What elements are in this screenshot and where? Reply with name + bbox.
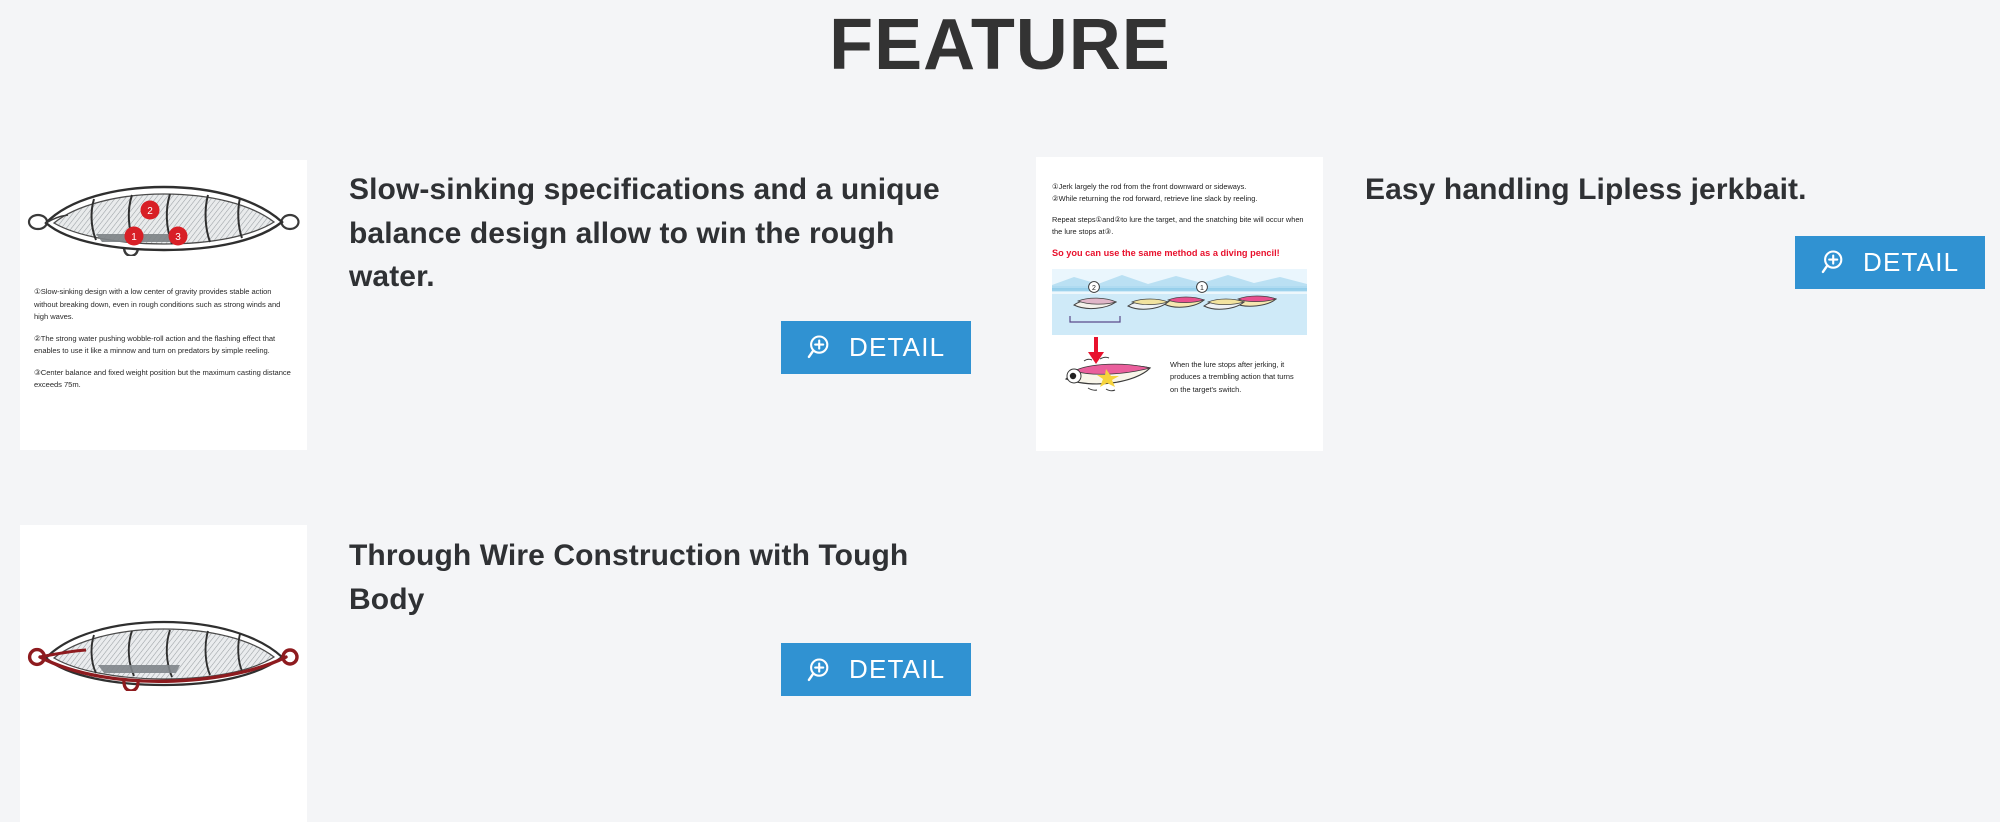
through-wire-diagram (20, 525, 307, 822)
through-wire-illustration (24, 613, 303, 691)
feature-headline: Easy handling Lipless jerkbait. (1365, 168, 1985, 212)
feature-headline: Slow-sinking specifications and a unique… (349, 168, 969, 299)
zoom-in-icon (807, 333, 835, 361)
lure-weight-diagram: 2 1 3 ①Slow-sinking design with a low ce… (20, 160, 307, 450)
weight-marker-1: 1 (125, 227, 144, 246)
svg-text:2: 2 (147, 206, 153, 217)
page-title: FEATURE (0, 4, 2000, 87)
weight-marker-2: 2 (141, 201, 160, 220)
zoom-in-icon (1821, 248, 1849, 276)
weight-marker-3: 3 (169, 227, 188, 246)
feature-headline: Through Wire Construction with Tough Bod… (349, 534, 969, 621)
svg-text:1: 1 (1200, 285, 1204, 292)
feature-image-card-through-wire (20, 525, 307, 822)
feature-copy-lipless-jerkbait: Easy handling Lipless jerkbait. DETAIL (1365, 168, 1985, 289)
spec-item-3: ③Center balance and fixed weight positio… (34, 367, 292, 392)
howto-repeat-note: Repeat steps①and②to lure the target, and… (1052, 214, 1307, 238)
feature-image-card-slow-sinking: 2 1 3 ①Slow-sinking design with a low ce… (20, 160, 307, 450)
detail-button-lipless-jerkbait[interactable]: DETAIL (1795, 236, 1985, 289)
feature-image-card-lipless-jerkbait: ①Jerk largely the rod from the front dow… (1036, 157, 1323, 451)
detail-button-label: DETAIL (1863, 247, 1959, 278)
zoom-in-icon (807, 656, 835, 684)
spec-text-list: ①Slow-sinking design with a low center o… (34, 286, 292, 392)
detail-button-through-wire[interactable]: DETAIL (781, 643, 971, 696)
how-to-diagram: ①Jerk largely the rod from the front dow… (1036, 157, 1323, 451)
svg-text:1: 1 (131, 232, 137, 243)
detail-button-label: DETAIL (849, 332, 945, 363)
spec-item-2: ②The strong water pushing wobble-roll ac… (34, 333, 292, 358)
howto-step-1: ①Jerk largely the rod from the front dow… (1052, 181, 1307, 193)
trembling-action-illustration: When the lure stops after jerking, it pr… (1052, 337, 1307, 411)
howto-steps: ①Jerk largely the rod from the front dow… (1052, 181, 1307, 205)
howto-step-2: ②While returning the rod forward, retrie… (1052, 193, 1307, 205)
trembling-action-caption: When the lure stops after jerking, it pr… (1170, 359, 1300, 397)
feature-section: FEATURE (0, 0, 2000, 822)
svg-text:3: 3 (175, 232, 181, 243)
feature-copy-slow-sinking: Slow-sinking specifications and a unique… (349, 168, 969, 374)
feature-copy-through-wire: Through Wire Construction with Tough Bod… (349, 534, 969, 696)
spec-item-1: ①Slow-sinking design with a low center o… (34, 286, 292, 324)
detail-button-label: DETAIL (849, 654, 945, 685)
water-scene-illustration: 2 1 (1052, 269, 1307, 335)
lure-body-illustration: 2 1 3 (24, 178, 303, 256)
svg-text:2: 2 (1092, 285, 1096, 292)
detail-button-slow-sinking[interactable]: DETAIL (781, 321, 971, 374)
howto-highlight: So you can use the same method as a divi… (1052, 247, 1307, 260)
